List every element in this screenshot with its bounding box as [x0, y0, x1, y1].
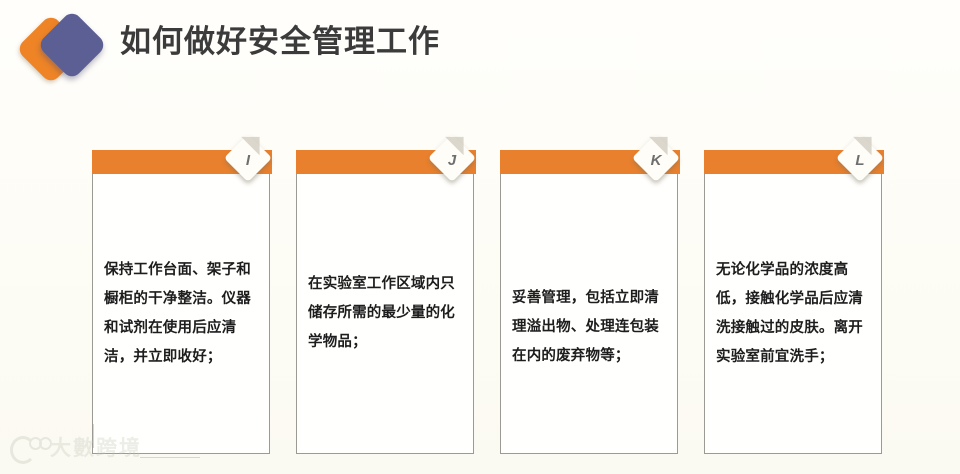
info-card: 保持工作台面、架子和橱柜的干净整洁。仪器和试剂在使用后应清洁，并立即收好； I: [92, 148, 272, 456]
card-text: 妥善管理，包括立即清理溢出物、处理连包装在内的废弃物等；: [512, 284, 669, 371]
watermark-text: 大數跨境: [50, 432, 142, 462]
watermark-vertical-rule: [93, 424, 94, 448]
diamond-logo: [18, 12, 110, 84]
card-badge: I: [228, 138, 274, 184]
watermark-logo-icon: [8, 434, 48, 462]
card-body: 保持工作台面、架子和橱柜的干净整洁。仪器和试剂在使用后应清洁，并立即收好；: [92, 174, 270, 454]
info-card: 在实验室工作区域内只储存所需的最少量的化学物品； J: [296, 148, 476, 456]
card-badge: L: [840, 138, 886, 184]
card-body: 在实验室工作区域内只储存所需的最少量的化学物品；: [296, 174, 474, 454]
card-body: 无论化学品的浓度高低，接触化学品后应清洗接触过的皮肤。离开实验室前宜洗手；: [704, 174, 882, 454]
card-text: 保持工作台面、架子和橱柜的干净整洁。仪器和试剂在使用后应清洁，并立即收好；: [104, 256, 261, 372]
card-body: 妥善管理，包括立即清理溢出物、处理连包装在内的废弃物等；: [500, 174, 678, 454]
page-title: 如何做好安全管理工作: [120, 20, 440, 64]
badge-letter: L: [840, 138, 880, 182]
slide-root: 如何做好安全管理工作 保持工作台面、架子和橱柜的干净整洁。仪器和试剂在使用后应清…: [0, 0, 960, 474]
cards-row: 保持工作台面、架子和橱柜的干净整洁。仪器和试剂在使用后应清洁，并立即收好； I …: [0, 148, 960, 460]
watermark-horizontal-rule: [140, 457, 200, 458]
badge-letter: J: [432, 138, 472, 182]
info-card: 无论化学品的浓度高低，接触化学品后应清洗接触过的皮肤。离开实验室前宜洗手； L: [704, 148, 884, 456]
card-badge: J: [432, 138, 478, 184]
badge-letter: I: [228, 138, 268, 182]
card-badge: K: [636, 138, 682, 184]
card-text: 在实验室工作区域内只储存所需的最少量的化学物品；: [308, 270, 465, 357]
badge-letter: K: [636, 138, 676, 182]
slide-header: 如何做好安全管理工作: [0, 0, 960, 95]
info-card: 妥善管理，包括立即清理溢出物、处理连包装在内的废弃物等； K: [500, 148, 680, 456]
card-text: 无论化学品的浓度高低，接触化学品后应清洗接触过的皮肤。离开实验室前宜洗手；: [716, 256, 873, 372]
